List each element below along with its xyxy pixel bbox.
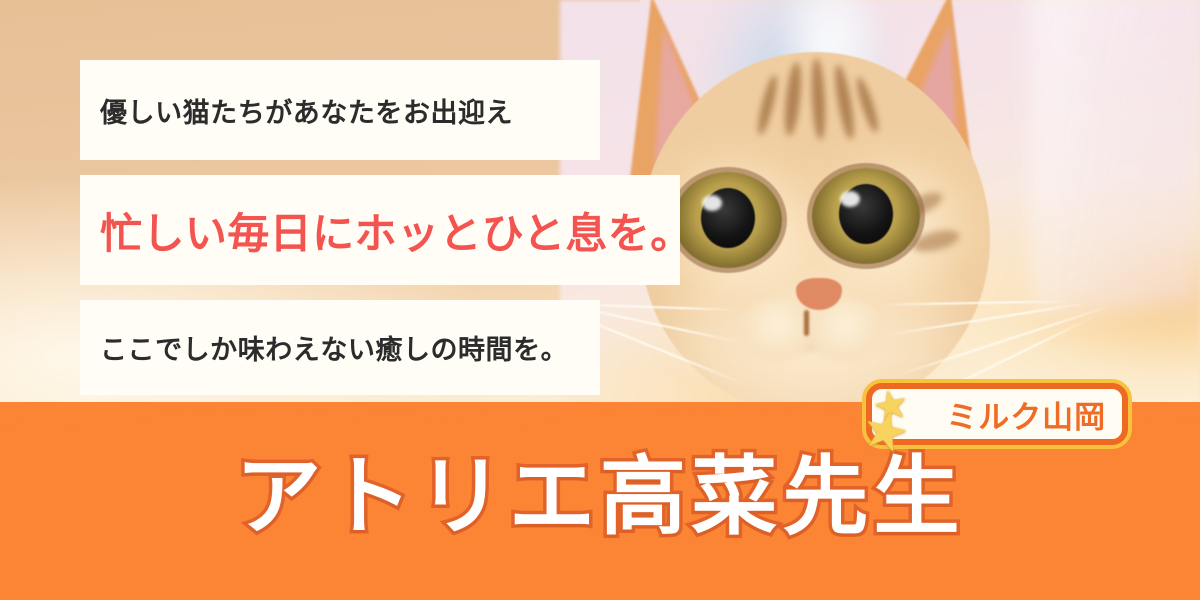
hero-photo: 優しい猫たちがあなたをお出迎え 忙しい毎日にホッとひと息を。 ここでしか味わえな… [0,0,1200,420]
catchcopy-box-1: 優しい猫たちがあなたをお出迎え [80,60,600,160]
page-title: アトリエ高菜先生 [0,452,1200,542]
catchcopy-line-2: 忙しい毎日にホッとひと息を。 [80,200,693,261]
catchcopy-box-3: ここでしか味わえない癒しの時間を。 [80,300,600,395]
kitten-eye-right [812,168,920,264]
catchcopy-line-3: ここでしか味わえない癒しの時間を。 [80,328,568,367]
catchcopy-box-2: 忙しい毎日にホッとひと息を。 [80,175,680,285]
kitten-mouth [804,310,809,336]
catchcopy-line-1: 優しい猫たちがあなたをお出迎え [80,91,513,130]
banner-root: 優しい猫たちがあなたをお出迎え 忙しい毎日にホッとひと息を。 ここでしか味わえな… [0,0,1200,600]
kitten-eye-glint-left [702,195,722,211]
badge-label: ミルク山岡 [946,392,1122,437]
kitten-eye-glint-right [840,191,860,207]
